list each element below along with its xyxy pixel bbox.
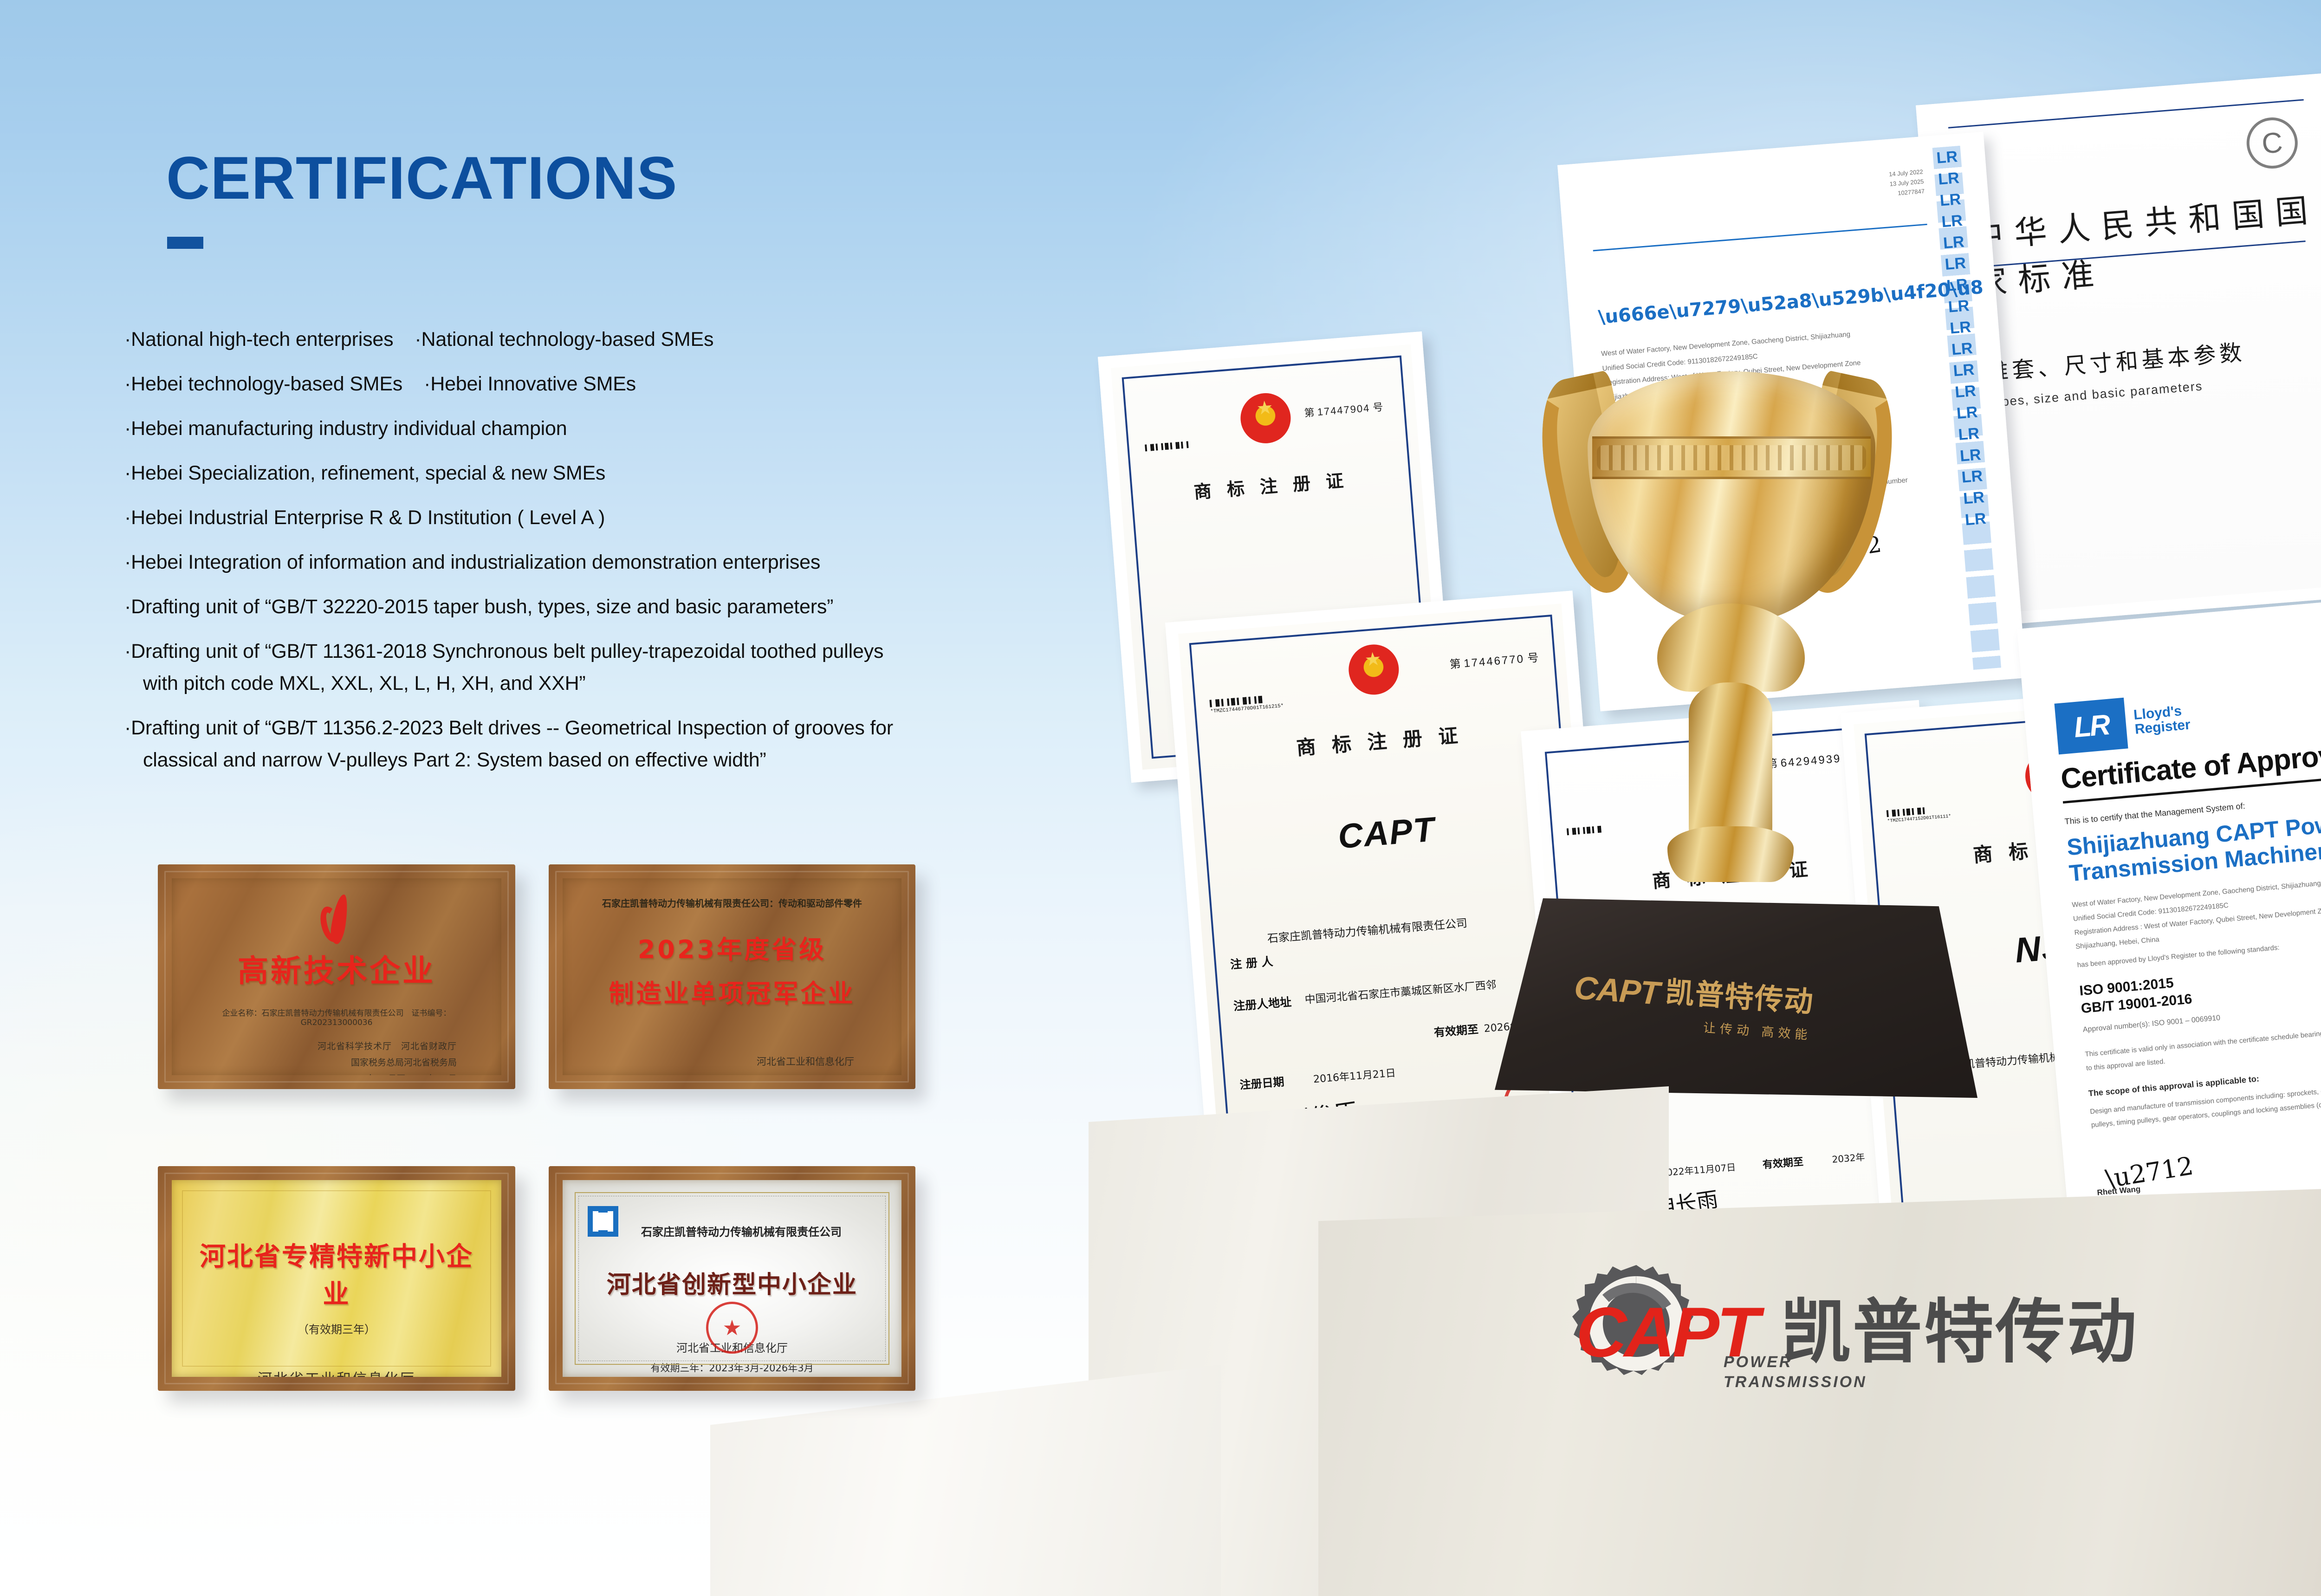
bullet-row-9: ·Drafting unit of “GB/T 11356.2-2023 Bel… (124, 718, 1146, 738)
bullet-row-0: ·National high-tech enterprises·National… (124, 330, 1146, 350)
certificate-lloyds-register: Current issue date: 14 July 2022 Expiry … (2017, 590, 2321, 1230)
high-tech-flame-icon (318, 894, 355, 944)
plaque2-header: 石家庄凯普特动力传输机械有限责任公司：传动和驱动部件零件 (584, 896, 880, 909)
bullet-0-right: ·National technology-based SMEs (415, 328, 713, 350)
tm4-number-unit: 号 (1372, 401, 1383, 414)
trophy-flute (1657, 603, 1805, 692)
tm1-number-label: 第 (1449, 658, 1461, 671)
base-logo-capt: CAPT (1573, 971, 1660, 1010)
plaque2-title-line1: 2023年度省级 (584, 929, 880, 966)
plaque-specialized-new-sme: 河北省专精特新中小企业 （有效期三年） 河北省工业和信息化厅 二〇二三年十月 (158, 1166, 515, 1391)
bullet-row-6: ·Drafting unit of “GB/T 32220-2015 taper… (124, 597, 1146, 617)
national-emblem-icon (1238, 391, 1292, 445)
tm3-valid: 2032年 (1831, 1149, 1865, 1165)
bullet-row-4: ·Hebei Industrial Enterprise R & D Insti… (124, 508, 1146, 528)
tm1-registrant-label: 注 册 人 (1230, 952, 1274, 972)
national-emblem-icon (1347, 642, 1400, 696)
plaque1-issuer1: 河北省科学技术厅 河北省财政厅 (193, 1039, 480, 1052)
brand-power-text: POWER (1724, 1352, 1867, 1372)
plaque-high-tech-enterprise: 高新技术企业 企业名称：石家庄凯普特动力传输机械有限责任公司 证书编号：GR20… (158, 864, 515, 1089)
bullet-row-7: ·Drafting unit of “GB/T 11361-2018 Synch… (124, 642, 1146, 662)
lr-date-3: 10277847 (1898, 188, 1925, 196)
certification-bullet-list: ·National high-tech enterprises·National… (124, 330, 1146, 795)
page-title: CERTIFICATIONS (166, 148, 678, 208)
brand-transmission-text: TRANSMISSION (1724, 1372, 1867, 1392)
plaque1-issuer2: 国家税务总局河北省税务局 (193, 1056, 480, 1068)
lr-date-2: 13 July 2025 (1889, 178, 1924, 188)
bullet-row-1: ·Hebei technology-based SMEs·Hebei Innov… (124, 374, 1146, 394)
gb-seal-icon: C (2245, 116, 2300, 170)
title-underline-accent (167, 237, 203, 249)
tm1-regdate-label: 注册日期 (1239, 1072, 1284, 1092)
bullet-row-5: ·Hebei Integration of information and in… (124, 552, 1146, 572)
plaque-manufacturing-champion: 石家庄凯普特动力传输机械有限责任公司：传动和驱动部件零件 2023年度省级 制造… (549, 864, 915, 1089)
gb-subtitle-cn: 锥套、尺寸和基本参数 (1985, 334, 2247, 387)
bullet-row-2: ·Hebei manufacturing industry individual… (124, 419, 1146, 439)
bullet-1-right: ·Hebei Innovative SMEs (424, 373, 636, 395)
capt-brand-logo: CAPT POWER TRANSMISSION 凯普特传动 (1576, 1298, 2139, 1367)
tm4-number-label: 第 (1304, 407, 1315, 419)
plaque2-title-line2: 制造业单项冠军企业 (584, 973, 880, 1010)
trophy-ornament-band (1592, 436, 1871, 479)
plaque1-title: 高新技术企业 (193, 946, 480, 991)
plaque3-issuer: 河北省工业和信息化厅 (193, 1367, 480, 1377)
plaque2-issuer: 河北省工业和信息化厅 (584, 1054, 880, 1068)
plaque1-company-line: 企业名称：石家庄凯普特动力传输机械有限责任公司 证书编号：GR202313000… (193, 1006, 480, 1027)
bullet-row-3: ·Hebei Specialization, refinement, speci… (124, 463, 1146, 483)
brand-power-transmission: POWER TRANSMISSION (1724, 1352, 1867, 1392)
bullet-0-left: ·National high-tech enterprises (124, 328, 393, 350)
lloyds-register-lr-icon: LR (2055, 698, 2128, 755)
plaque2-date: 2023年12月 (584, 1073, 880, 1075)
plaque4-gongxin-icon (588, 1206, 618, 1237)
bullet-1-left: ·Hebei technology-based SMEs (124, 373, 402, 395)
plaque4-red-stamp: ★ (706, 1302, 758, 1354)
podium-front-panel (1318, 1188, 2321, 1596)
bullet-row-10: classical and narrow V-pulleys Part 2: S… (124, 750, 1146, 770)
trophy-stem (1689, 682, 1772, 877)
bullet-row-8: with pitch code MXL, XXL, XL, L, H, XH, … (124, 674, 1146, 694)
plaque-innovative-sme: 石家庄凯普特动力传输机械有限责任公司 河北省创新型中小企业 河北省工业和信息化厅… (549, 1166, 915, 1391)
plaque1-date: 2023年10月至2026年10月 (193, 1072, 480, 1075)
lr-date-1: 14 July 2022 (1889, 168, 1924, 178)
